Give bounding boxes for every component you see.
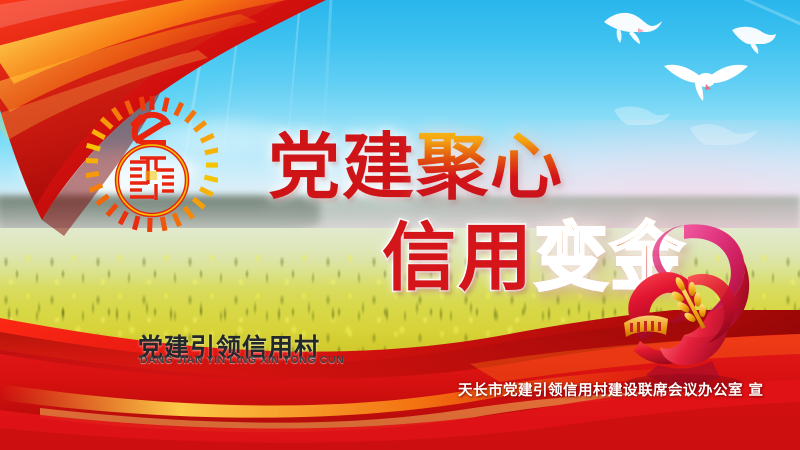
circular-seal-icon <box>117 145 187 215</box>
logo-brand-pinyin: DANG JIAN YIN LING XIN YONG CUN <box>140 354 344 366</box>
dove-icon-faint <box>688 116 760 154</box>
hammer-sickle-icon <box>130 112 171 145</box>
dove-icon <box>730 22 782 56</box>
logo-emblem-sunburst <box>86 92 218 232</box>
village-credit-logo[interactable]: 党建引领信用村 DANG JIAN YIN LING XIN YONG CUN <box>68 92 236 282</box>
dove-icon <box>662 54 750 104</box>
doves-group <box>580 0 800 160</box>
dove-icon <box>598 8 664 48</box>
ribbon-sculpture <box>588 217 778 392</box>
issuer-credit-text: 天长市党建引领信用村建设联席会议办公室 宣 <box>458 379 764 400</box>
poster-canvas: 党建引领信用村 DANG JIAN YIN LING XIN YONG CUN … <box>0 0 800 450</box>
dove-icon-faint <box>612 100 672 134</box>
